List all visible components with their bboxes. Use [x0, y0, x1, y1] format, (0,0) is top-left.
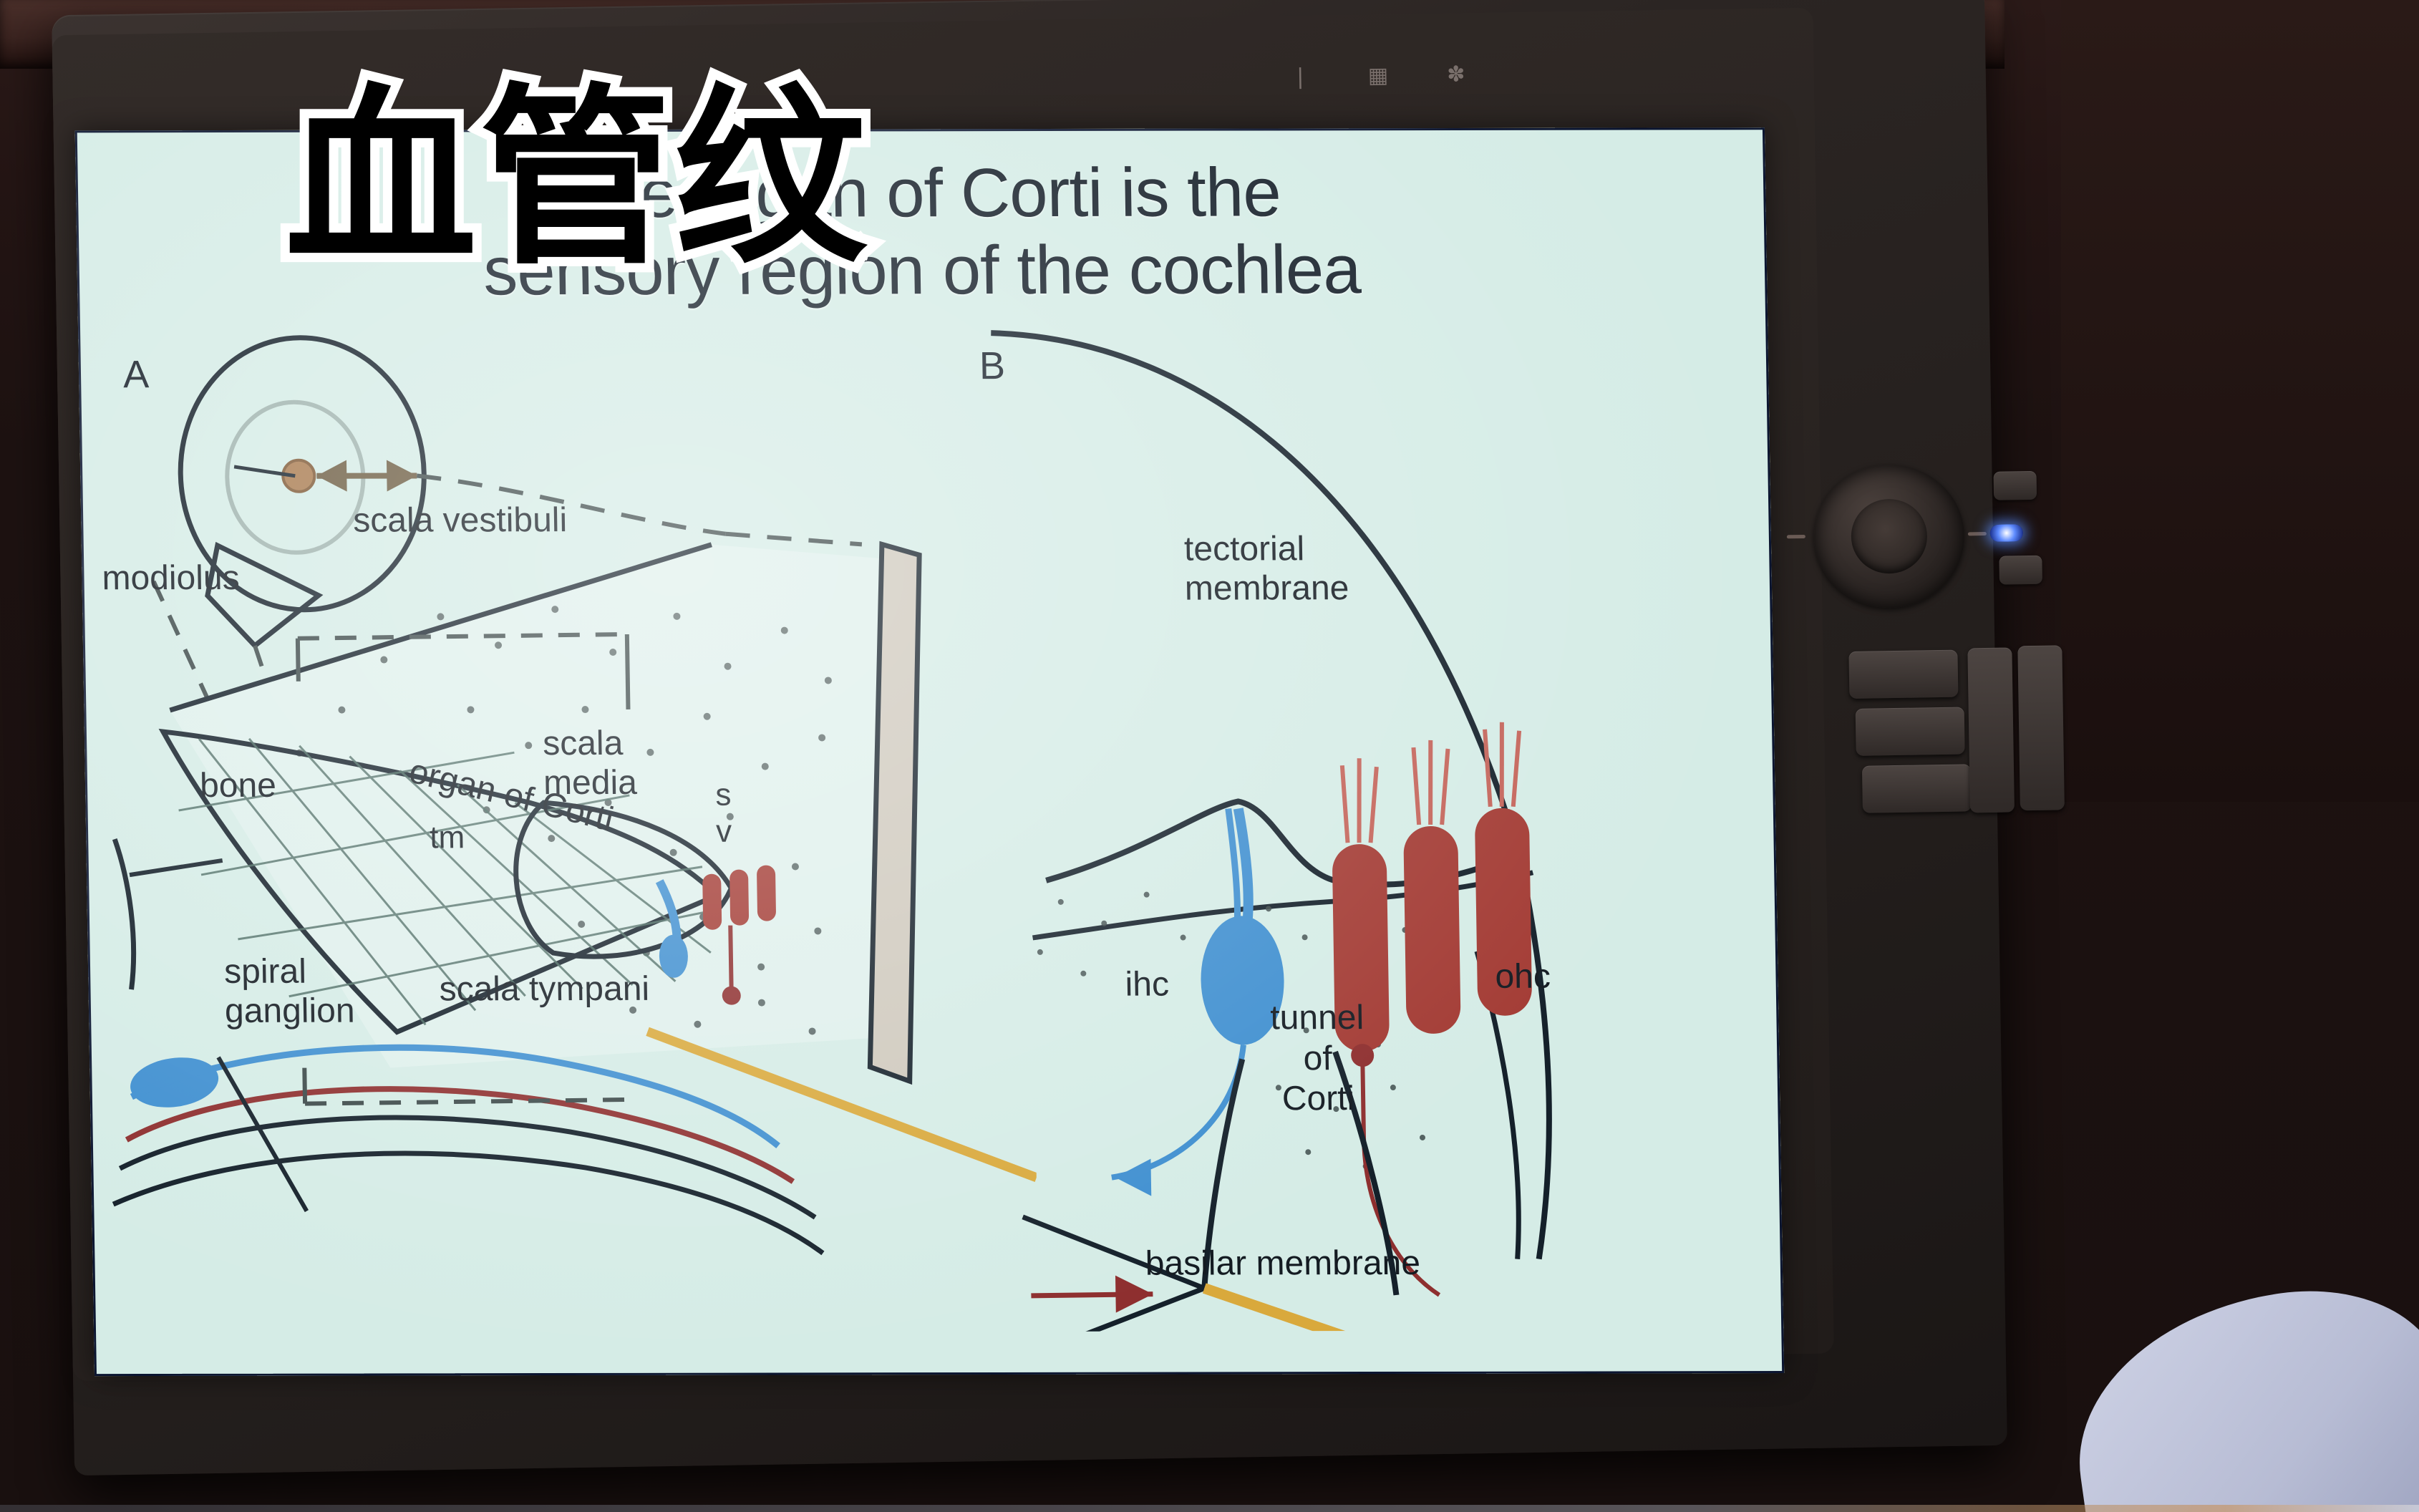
label-modiolus: modiolus	[102, 560, 240, 598]
label-basilar-membrane: basilar membrane	[1145, 1245, 1420, 1283]
wrench-icon: ✽	[1447, 62, 1465, 87]
label-ihc: ihc	[1125, 966, 1169, 1004]
express-key-panel[interactable]	[1805, 462, 2070, 896]
touch-ring-marker-right	[1968, 532, 1987, 535]
subtitle-overlay-chinese: 血管纹	[285, 83, 869, 275]
express-key-2[interactable]	[1856, 707, 1965, 755]
express-key-1[interactable]	[1848, 650, 1958, 699]
device-bezel-icons: ❘ ▦ ✽	[1291, 62, 1465, 89]
label-spiral-ganglion: spiral ganglion	[224, 952, 355, 1032]
panel-b-figure	[923, 306, 1784, 1332]
express-key-top[interactable]	[1993, 471, 2037, 500]
label-ohc: ohc	[1495, 959, 1551, 997]
screenshot-scene: W PD REVIEW 71 COMING LAW Harvard D LIBE…	[0, 0, 2419, 1512]
device-screen[interactable]: The organ of Corti is the sensory region…	[75, 127, 1785, 1376]
grid-icon: ▦	[1368, 63, 1389, 88]
pen-icon: ❘	[1291, 64, 1309, 89]
touch-ring[interactable]	[1813, 463, 1965, 609]
express-key-3[interactable]	[1862, 764, 1972, 813]
presentation-slide: The organ of Corti is the sensory region…	[75, 127, 1785, 1376]
express-key-5[interactable]	[2017, 645, 2065, 810]
label-tunnel-of-corti: tunnel of Corti	[1270, 998, 1365, 1120]
video-progress-bar[interactable]	[0, 1505, 2419, 1512]
label-stria-vascularis-sv: s v	[715, 777, 732, 850]
label-tm: tm	[430, 820, 465, 855]
label-tectorial-membrane: tectorial membrane	[1184, 529, 1349, 609]
express-key-4[interactable]	[1967, 647, 2015, 813]
express-key-bottom[interactable]	[1999, 556, 2042, 585]
label-scala-tympani: scala tympani	[439, 971, 649, 1009]
right-bookshelf: COMING LAW Harvard D LIBERTY GEOFFREY R.…	[2061, 0, 2419, 802]
label-bone: bone	[200, 767, 277, 805]
label-scala-vestibuli: scala vestibuli	[353, 502, 568, 540]
status-led	[1990, 524, 2023, 542]
touch-ring-marker-left	[1787, 535, 1805, 538]
